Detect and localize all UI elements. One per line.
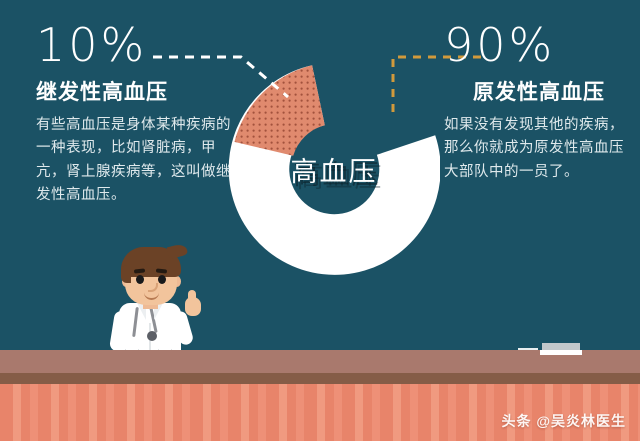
right-percent: 90%	[444, 22, 634, 68]
left-body: 有些高血压是身体某种疾病的一种表现，比如肾脏病，甲亢，肾上腺疾病等，这叫做继发性…	[36, 114, 236, 208]
doctor-hair-tuft	[167, 243, 188, 259]
left-title: 继发性高血压	[36, 76, 236, 106]
infographic-canvas: 高血压 10% 继发性高血压 有些高血压是身体某种疾病的一种表现，比如肾脏病，甲…	[0, 0, 640, 441]
left-panel: 10% 继发性高血压 有些高血压是身体某种疾病的一种表现，比如肾脏病，甲亢，肾上…	[36, 22, 236, 208]
desk-paper-sheet	[540, 350, 582, 355]
right-body: 如果没有发现其他的疾病，那么你就成为原发性高血压大部队中的一员了。	[444, 114, 634, 184]
doctor-eye-right	[158, 275, 166, 284]
right-title: 原发性高血压	[444, 76, 634, 106]
doctor-thumb	[188, 290, 196, 303]
donut-chart-svg	[228, 63, 440, 275]
watermark-text: 头条 @吴炎林医生	[501, 411, 626, 431]
doctor-eye-left	[136, 275, 144, 284]
counter-edge-band	[0, 373, 640, 384]
donut-chart: 高血压	[228, 63, 440, 275]
stethoscope-chestpiece-icon	[147, 331, 157, 341]
left-percent: 10%	[36, 22, 236, 68]
right-panel: 90% 原发性高血压 如果没有发现其他的疾病，那么你就成为原发性高血压大部队中的…	[444, 22, 634, 184]
doctor-hair-sideburn	[121, 265, 131, 283]
